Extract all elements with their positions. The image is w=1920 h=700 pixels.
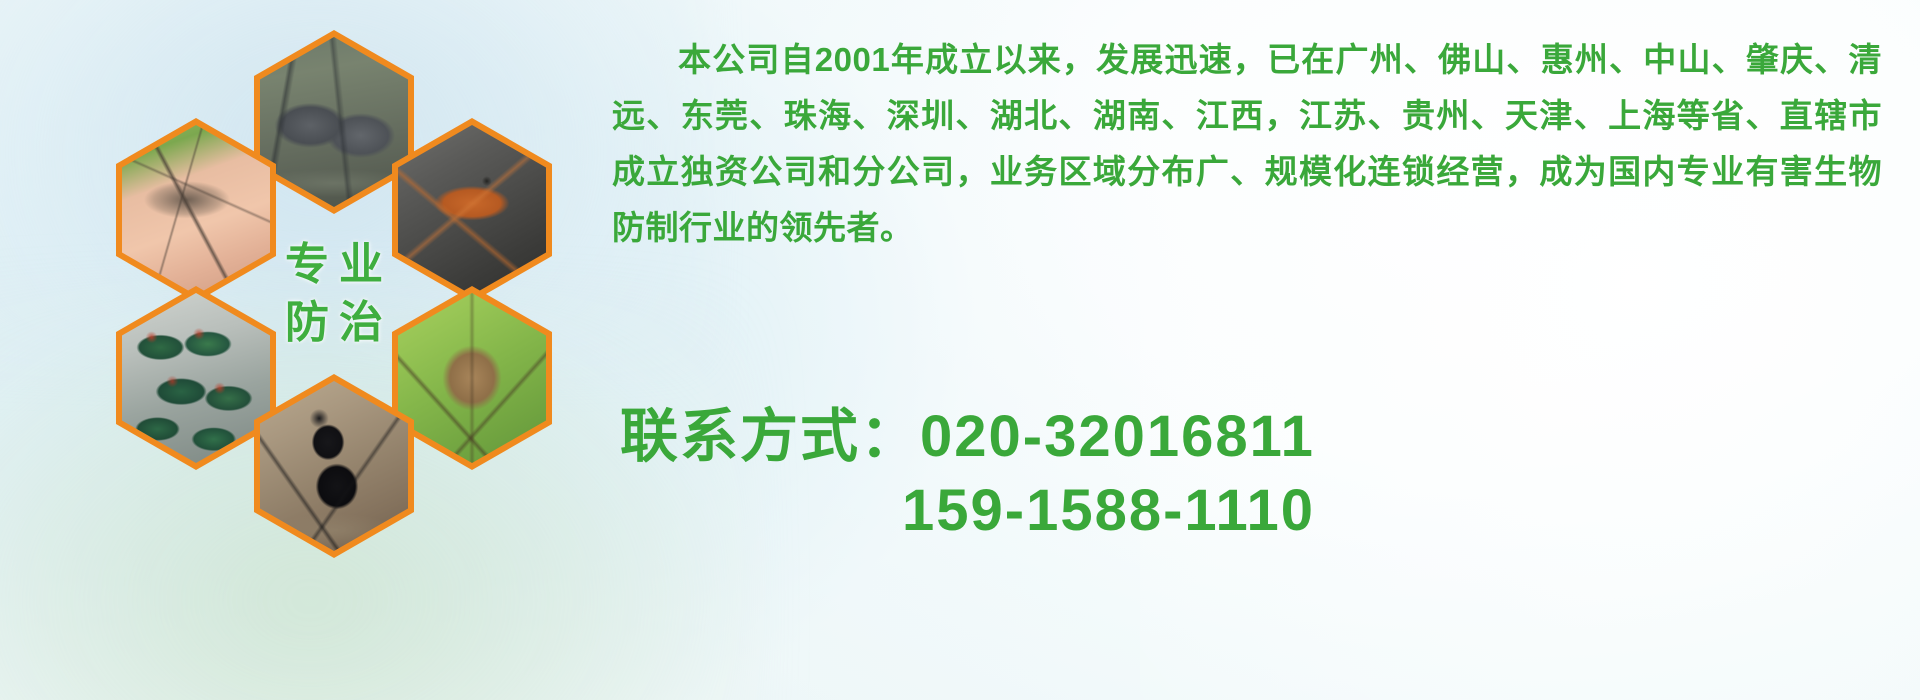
company-intro-paragraph: 本公司自2001年成立以来，发展迅速，已在广州、佛山、惠州、中山、肇庆、清远、东… [612, 32, 1882, 256]
flies-photo [122, 293, 270, 463]
hex-cell-flies[interactable] [116, 286, 276, 470]
hex-cell-ant[interactable] [254, 374, 414, 558]
contact-line-primary[interactable]: 联系方式：020-32016811 [620, 400, 1820, 474]
contact-line-secondary[interactable]: 159-1588-1110 [620, 474, 1820, 548]
badge-professional-control: 专业 防治 [254, 202, 414, 386]
company-intro-block: 本公司自2001年成立以来，发展迅速，已在广州、佛山、惠州、中山、肇庆、清远、东… [612, 32, 1882, 256]
badge-line-1: 专业 [275, 243, 393, 287]
hex-cell-mosquito[interactable] [116, 118, 276, 302]
contact-block: 联系方式：020-32016811 159-1588-1110 [620, 400, 1820, 548]
hex-cell-stinkbug[interactable] [392, 286, 552, 470]
hexagon-photo-cluster: 专业 防治 [86, 8, 586, 568]
hex-cell-rats[interactable] [254, 30, 414, 214]
rats-photo [260, 37, 408, 207]
stinkbug-photo [398, 293, 546, 463]
badge-line-2: 防治 [275, 301, 393, 345]
pest-control-banner: 专业 防治 本公司自2001年成立以来，发展迅速，已在广州、佛山、惠州、中山、肇… [0, 0, 1920, 700]
mosquito-photo [122, 125, 270, 295]
hex-cell-cockroach[interactable] [392, 118, 552, 302]
cockroach-photo [398, 125, 546, 295]
ant-photo [260, 381, 408, 551]
